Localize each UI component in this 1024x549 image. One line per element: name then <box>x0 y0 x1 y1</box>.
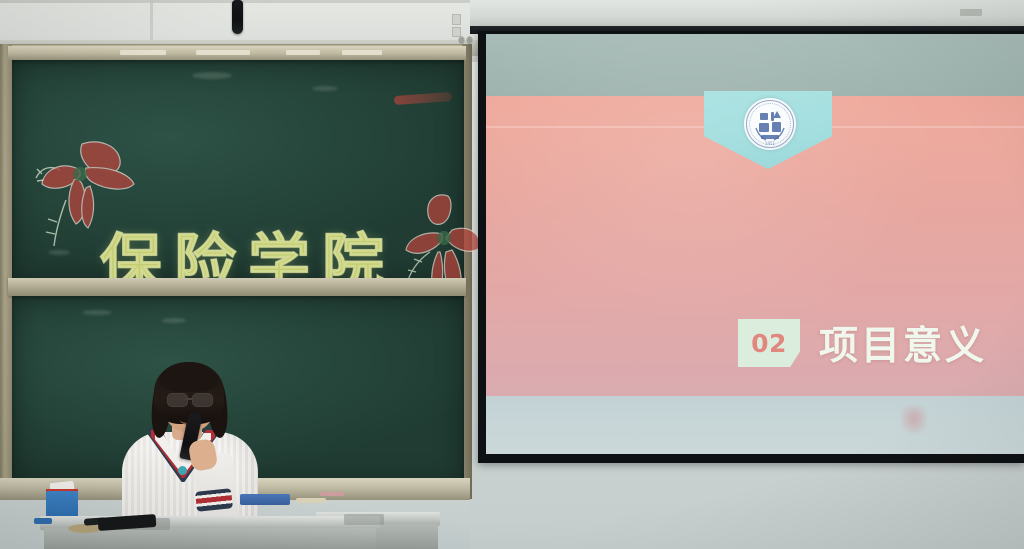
speaker-fringe <box>160 366 218 392</box>
blue-pen-object <box>34 518 52 524</box>
wall-panel-seam <box>150 0 153 44</box>
chalk-dust-2 <box>312 86 338 91</box>
chalk-dust-5 <box>162 318 186 323</box>
sweater-cuff-stripes <box>195 488 233 512</box>
slide-section-number-chip: 02 <box>738 319 800 367</box>
chalk-stick-object <box>296 498 326 503</box>
glasses-left-lens-icon <box>167 393 188 407</box>
seal-glyphs: 1951 <box>744 98 796 150</box>
wall-fitting-upper <box>452 14 461 25</box>
rail-chalk-mark-3 <box>286 50 320 55</box>
slide-bottom-band <box>486 396 1024 454</box>
blackboard-middle-rail <box>8 278 466 296</box>
chalk-dust-4 <box>82 310 112 315</box>
tissue-box-object <box>46 491 78 517</box>
desk-plate-right <box>344 514 384 525</box>
housing-brand-badge <box>960 9 982 16</box>
rail-chalk-mark-2 <box>196 50 250 55</box>
classroom-scene: 保险学院 “三千计划” 启动仪式 <box>0 0 1024 549</box>
projector-screen-surface: 1951 02 项目意义 <box>486 34 1024 454</box>
slide-section-title: 项目意义 <box>819 315 987 371</box>
blackboard-panel-top: 保险学院 <box>12 60 464 280</box>
blackboard-frame-left <box>0 44 12 499</box>
red-chalk-smudge <box>394 92 452 105</box>
slide-top-band <box>486 34 1024 96</box>
screen-stain <box>901 406 927 434</box>
pencil-case-object <box>240 494 290 505</box>
pink-chalk-object <box>320 492 344 496</box>
necklace-pendant <box>178 466 187 475</box>
chalk-dust-1 <box>192 72 232 79</box>
rail-chalk-mark-4 <box>342 50 382 55</box>
slide-section-heading: 02 项目意义 <box>738 315 987 371</box>
svg-text:1951: 1951 <box>765 141 776 146</box>
ceiling-sensor-icon <box>232 0 243 34</box>
glasses-bridge-icon <box>186 398 192 400</box>
glasses-right-lens-icon <box>192 393 213 407</box>
university-seal-icon: 1951 <box>744 98 796 150</box>
slide-section-number: 02 <box>751 329 787 358</box>
rail-chalk-mark-1 <box>120 50 166 55</box>
